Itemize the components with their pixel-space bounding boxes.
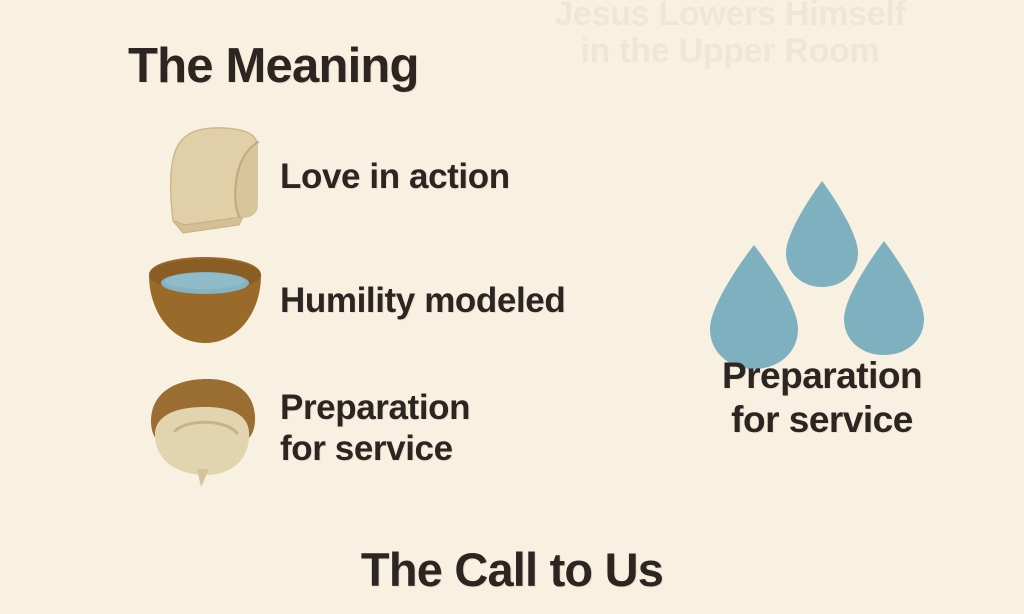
right-panel-label: Preparation for service <box>672 354 972 441</box>
list-item-label: Love in action <box>280 156 510 197</box>
list-item-label: Preparation for service <box>280 387 470 470</box>
list-item-label: Humility modeled <box>280 280 565 321</box>
water-droplets-icon <box>672 172 972 342</box>
ghost-heading-text: Jesus Lowers Himself in the Upper Room <box>520 0 940 69</box>
page-title: The Meaning <box>128 38 419 94</box>
list-item: Preparation for service <box>130 366 470 490</box>
droplet-top <box>786 181 858 287</box>
water-basin-icon <box>130 249 280 353</box>
slide-canvas: Jesus Lowers Himself in the Upper Room T… <box>0 0 1024 614</box>
folded-towel-icon <box>130 121 280 233</box>
footer-title: The Call to Us <box>0 542 1024 597</box>
bread-loaf-icon <box>130 369 280 487</box>
list-item: Love in action <box>130 118 510 236</box>
droplet-left <box>710 245 798 369</box>
right-highlight-panel: Preparation for service <box>672 172 972 441</box>
list-item: Humility modeled <box>130 246 565 356</box>
